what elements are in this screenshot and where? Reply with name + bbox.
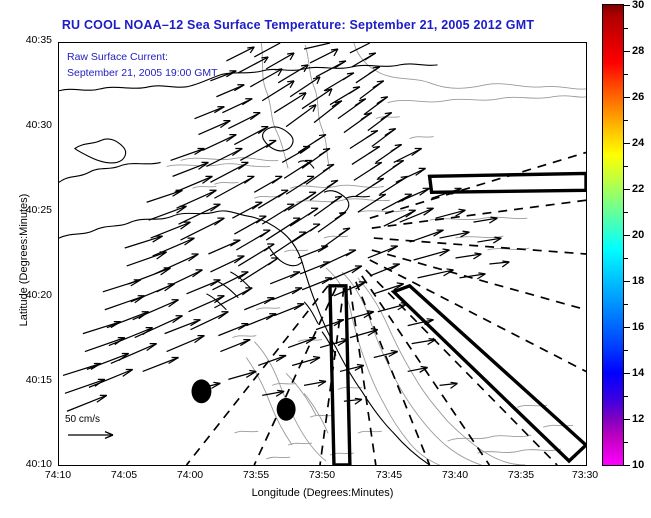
coastline	[59, 64, 438, 465]
x-axis-title: Longitude (Degrees:Minutes)	[58, 487, 587, 499]
colorbar-tick-label: 22	[632, 183, 644, 195]
colorbar-tick-label: 30	[632, 0, 644, 11]
colorbar-tick-label: 18	[632, 275, 644, 287]
x-tick-label: 73:35	[508, 469, 534, 481]
scale-arrow-icon	[67, 430, 119, 440]
x-tick-label: 73:45	[376, 469, 402, 481]
x-tick-label: 74:05	[111, 469, 137, 481]
colorbar-tick-label: 10	[632, 459, 644, 471]
current-vector-field	[63, 43, 509, 411]
x-tick-label: 73:55	[243, 469, 269, 481]
map-canvas	[59, 43, 586, 465]
annotation-line-2: September 21, 2005 19:00 GMT	[67, 65, 218, 81]
colorbar-tick-label: 16	[632, 321, 644, 333]
figure-root: RU COOL NOAA–12 Sea Surface Temperature:…	[0, 0, 651, 518]
figure-title: RU COOL NOAA–12 Sea Surface Temperature:…	[0, 18, 596, 32]
scale-legend-label: 50 cm/s	[65, 414, 119, 425]
map-plot-area: Raw Surface Current: September 21, 2005 …	[58, 42, 587, 466]
colorbar-tick-label: 14	[632, 367, 644, 379]
annotation-line-1: Raw Surface Current:	[67, 49, 218, 65]
x-tick-label: 74:10	[45, 469, 71, 481]
x-tick-label: 73:30	[572, 469, 598, 481]
x-tick-label: 74:00	[177, 469, 203, 481]
y-axis-title: Latitude (Degrees:Minutes)	[18, 150, 30, 370]
colorbar-tick-label: 12	[632, 413, 644, 425]
colorbar-tick-label: 24	[632, 137, 644, 149]
x-tick-label: 73:50	[309, 469, 335, 481]
colorbar-tick-label: 28	[632, 45, 644, 57]
annotation-block: Raw Surface Current: September 21, 2005 …	[67, 49, 218, 81]
scale-legend: 50 cm/s	[65, 414, 119, 443]
colorbar-tick-label: 20	[632, 229, 644, 241]
x-tick-label: 73:40	[442, 469, 468, 481]
scale-legend-arrow	[67, 430, 119, 443]
station-marker	[277, 398, 296, 421]
colorbar-tick-label: 26	[632, 91, 644, 103]
colorbar	[602, 4, 624, 466]
station-marker	[191, 379, 211, 403]
